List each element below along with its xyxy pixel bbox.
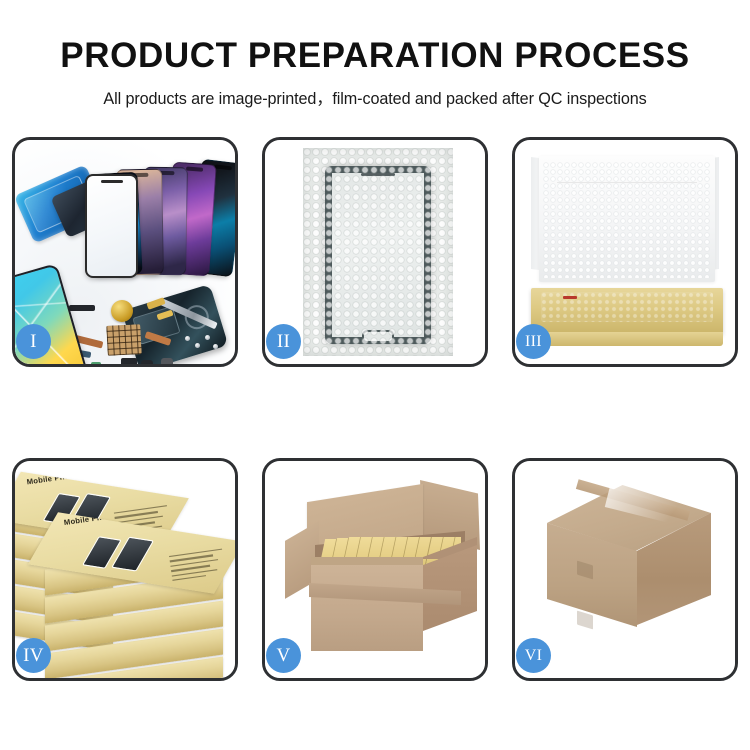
- chip-grid-graphic: [106, 324, 142, 356]
- bubble-wrap-sheet-graphic: [303, 148, 453, 356]
- carton-front-panel-graphic: [311, 565, 423, 651]
- step-card-1: I Phone LCD screens, tempered glass and …: [12, 137, 238, 367]
- step-badge-5: V: [266, 638, 301, 673]
- page-title: PRODUCT PREPARATION PROCESS: [0, 0, 750, 76]
- carton-handle-tab-graphic: [577, 611, 593, 630]
- spare-part-graphic: [161, 358, 173, 364]
- inner-box-foam-lid-graphic: [539, 156, 715, 282]
- open-carton-graphic: [281, 487, 477, 657]
- wrapped-screen-graphic: [325, 166, 431, 344]
- step-3-image: [515, 140, 735, 364]
- page-subtitle: All products are image-printed，film-coat…: [0, 76, 750, 109]
- inner-box-tray-graphic: [531, 288, 723, 334]
- step-badge-4: IV: [16, 638, 51, 673]
- coil-part-graphic: [111, 300, 133, 322]
- sealed-carton-graphic: [529, 485, 725, 653]
- screen-red-marker-graphic: [563, 296, 577, 299]
- spare-part-graphic: [69, 305, 95, 311]
- step-card-2: II Screen assembly wrapped in bubble fil…: [262, 137, 488, 367]
- step-badge-2: II: [266, 324, 301, 359]
- packed-screen-graphic: [541, 292, 713, 322]
- step-2-image: [265, 140, 485, 364]
- step-badge-1: I: [16, 324, 51, 359]
- step-card-4: Mobile Phone Spare Parts Mobile Phone Sp…: [12, 458, 238, 681]
- process-steps-grid: I Phone LCD screens, tempered glass and …: [12, 137, 738, 681]
- tempered-glass-graphic: [85, 174, 138, 278]
- page-header: PRODUCT PREPARATION PROCESS All products…: [0, 0, 750, 109]
- spare-part-graphic: [141, 360, 153, 364]
- step-badge-3: III: [516, 324, 551, 359]
- step-badge-6: VI: [516, 638, 551, 673]
- spare-part-graphic: [121, 358, 137, 364]
- spare-part-graphic: [91, 362, 101, 364]
- step-card-3: III Wrapped screen placed in foam-lined …: [512, 137, 738, 367]
- step-card-5: V Boxes loaded into the outer shipping c…: [262, 458, 488, 681]
- step-1-image: [15, 140, 235, 364]
- screws-graphic: [185, 334, 219, 350]
- step-card-6: VI Carton sealed and ready for dispatch: [512, 458, 738, 681]
